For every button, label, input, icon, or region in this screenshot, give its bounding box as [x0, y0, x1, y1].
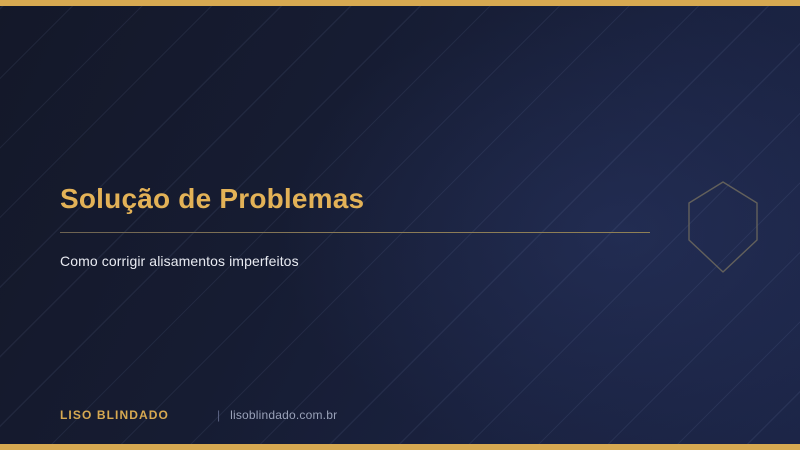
- page-title: Solução de Problemas: [60, 183, 660, 214]
- hexagon-outline-icon: [686, 180, 760, 275]
- brand-name: LISO BLINDADO: [60, 408, 169, 422]
- bottom-accent-bar: [0, 444, 800, 450]
- top-accent-bar: [0, 0, 800, 6]
- slide-footer: LISO BLINDADO | lisoblindado.com.br: [60, 408, 337, 422]
- website-url: lisoblindado.com.br: [230, 408, 337, 422]
- title-divider: [60, 232, 650, 233]
- footer-separator: |: [217, 408, 220, 422]
- slide-content: Solução de Problemas Como corrigir alisa…: [60, 183, 660, 269]
- slide-subtitle: Como corrigir alisamentos imperfeitos: [60, 253, 660, 269]
- presentation-slide: Solução de Problemas Como corrigir alisa…: [0, 0, 800, 450]
